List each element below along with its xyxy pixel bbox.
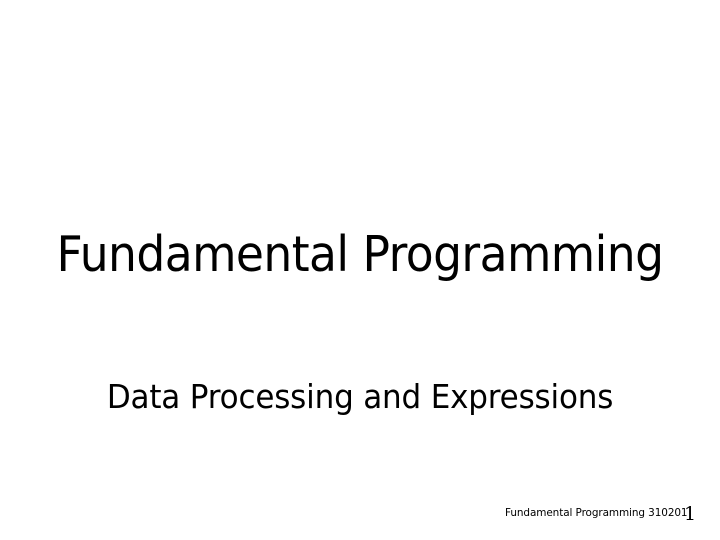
slide-subtitle: Data Processing and Expressions — [22, 379, 699, 415]
presentation-slide: Fundamental Programming Data Processing … — [0, 0, 720, 540]
slide-number: 1 — [678, 503, 702, 525]
slide-footer-text: Fundamental Programming 310201 — [505, 506, 687, 519]
slide-title: Fundamental Programming — [25, 229, 695, 280]
